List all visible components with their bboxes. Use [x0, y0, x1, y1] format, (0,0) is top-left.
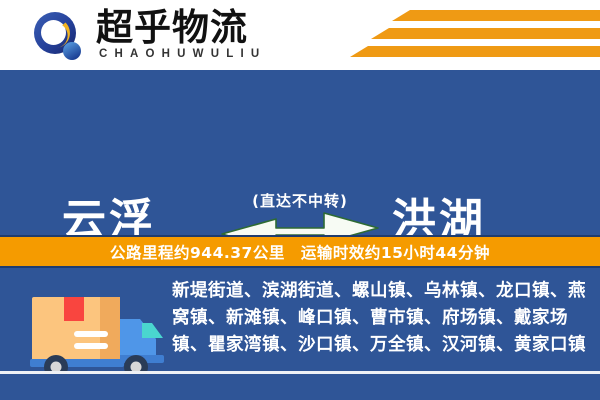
circle-crescent-logo-icon — [32, 11, 84, 63]
stripe-2 — [371, 28, 600, 39]
delivery-truck-icon — [26, 281, 166, 381]
footer-strip — [0, 374, 600, 400]
distance-duration-text: 公路里程约944.37公里 运输时效约15小时44分钟 — [110, 241, 490, 263]
stripe-1 — [392, 10, 600, 21]
coverage-areas-text: 新堤街道、滨湖街道、螺山镇、乌林镇、龙口镇、燕窝镇、新滩镇、峰口镇、曹市镇、府场… — [172, 278, 586, 359]
header-bar: 超乎物流 CHAOHUWULIU — [0, 0, 600, 70]
brand-name: 超乎物流 — [96, 7, 248, 49]
logistics-route-banner: 超乎物流 CHAOHUWULIU 云浮 洪湖 (直达不中转) 【往返运输】 公路… — [0, 0, 600, 400]
brand-pinyin: CHAOHUWULIU — [99, 48, 266, 60]
stripe-3 — [350, 46, 600, 57]
route-panel: 云浮 洪湖 (直达不中转) 【往返运输】 — [0, 70, 600, 237]
route-info-band: 公路里程约944.37公里 运输时效约15小时44分钟 — [0, 237, 600, 266]
direct-note: (直达不中转) — [0, 190, 600, 211]
orange-speed-stripes-icon — [330, 8, 600, 64]
